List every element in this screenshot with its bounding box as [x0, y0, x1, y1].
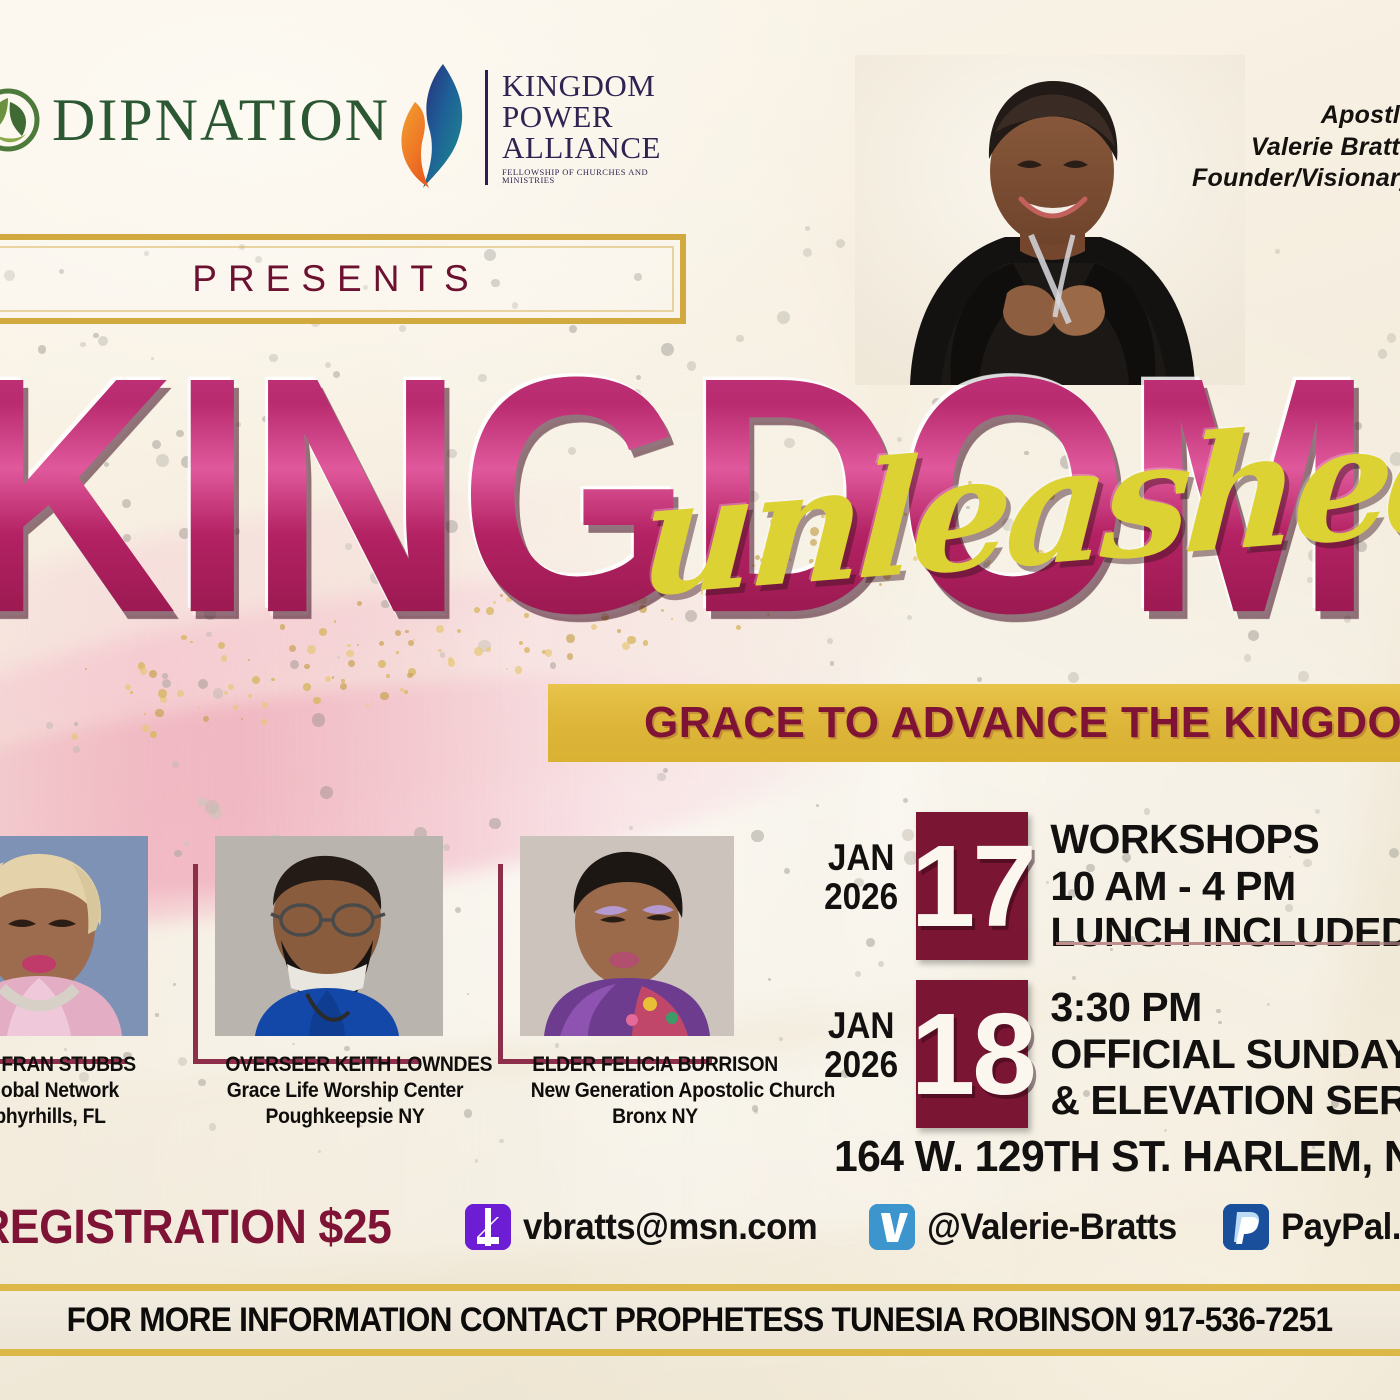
- confetti-dot: [657, 773, 665, 781]
- speaker-name: ELDER FELICIA BURRISON: [531, 1052, 779, 1078]
- date-details: WORKSHOPS 10 AM - 4 PM LUNCH INCLUDED: [1050, 816, 1400, 956]
- speaker-name: DR. FRAN STUBBS: [0, 1052, 160, 1078]
- speaker-photo-frame: [520, 836, 734, 1036]
- apostle-name: Valerie Bratts: [1174, 132, 1400, 164]
- date-day-box: 17: [916, 812, 1028, 960]
- payment-paypal[interactable]: PayPal.me/VBratts: [1223, 1204, 1400, 1250]
- speaker-photo: [0, 836, 148, 1036]
- confetti-dot: [404, 690, 408, 694]
- confetti-dot: [73, 746, 80, 753]
- confetti-dot: [198, 797, 207, 806]
- date-month-year: JAN 2026: [824, 838, 898, 916]
- confetti-dot: [629, 826, 633, 830]
- date-row: JAN 2026 17 WORKSHOPS 10 AM - 4 PM LUNCH…: [820, 812, 1400, 960]
- paypal-handle: PayPal.me/VBratts: [1281, 1206, 1400, 1248]
- confetti-dot: [366, 705, 368, 707]
- speakers-section: DR. FRAN STUBBS Global Network phyrhills…: [0, 836, 800, 1146]
- date-row: JAN 2026 18 3:30 PM OFFICIAL SUNDAY & EL…: [820, 980, 1400, 1128]
- alliance-subtitle: FELLOWSHIP OF CHURCHES AND MINISTRIES: [502, 168, 700, 185]
- dipnation-logo: DIPNATION: [0, 88, 390, 152]
- confetti-dot: [836, 239, 845, 248]
- confetti-dot: [158, 689, 167, 698]
- date-detail-line: 3:30 PM: [1050, 984, 1400, 1031]
- flame-icon: [385, 62, 477, 192]
- main-title-block: KINGDOM unleashed: [0, 330, 1400, 690]
- date-detail-line: 10 AM - 4 PM: [1050, 863, 1400, 910]
- zelle-handle: vbratts@msn.com: [523, 1206, 817, 1248]
- confetti-dot: [380, 692, 388, 700]
- confetti-dot: [663, 768, 668, 773]
- confetti-dot: [313, 697, 321, 705]
- speaker-org: Grace Life Worship Center: [225, 1078, 464, 1104]
- apostle-role: Founder/Visionary: [1174, 163, 1400, 195]
- speaker-org: New Generation Apostolic Church: [531, 1078, 779, 1104]
- confetti-dot: [46, 722, 53, 729]
- confetti-dot: [475, 1159, 479, 1163]
- confetti-dot: [177, 690, 184, 697]
- confetti-dot: [805, 226, 810, 231]
- confetti-dot: [130, 691, 132, 693]
- venue-address: 164 W. 129TH ST. HARLEM, NY: [834, 1132, 1400, 1182]
- confetti-dot: [803, 248, 812, 257]
- sponsor-logo-row: DIPNATION: [0, 70, 700, 210]
- apostle-caption: Apostle Valerie Bratts Founder/Visionary: [1174, 100, 1400, 195]
- speaker-card: DR. FRAN STUBBS Global Network phyrhills…: [0, 836, 170, 1131]
- date-year: 2026: [824, 877, 898, 916]
- contact-text: FOR MORE INFORMATION CONTACT PROPHETESS …: [67, 1301, 1333, 1340]
- confetti-dot: [172, 761, 179, 768]
- registration-row: REGISTRATION $25 vbratts@msn.com @Valeri…: [0, 1196, 1400, 1258]
- payment-zelle[interactable]: vbratts@msn.com: [465, 1204, 836, 1250]
- date-detail-line: OFFICIAL SUNDAY: [1050, 1031, 1400, 1078]
- alliance-line-2: POWER: [502, 101, 700, 132]
- confetti-dot: [903, 798, 908, 803]
- alliance-line-3: ALLIANCE: [502, 132, 700, 163]
- confetti-dot: [160, 696, 167, 703]
- confetti-dot: [312, 713, 326, 727]
- confetti-dot: [261, 719, 267, 725]
- confetti-dot: [155, 709, 163, 717]
- kingdom-power-alliance-logo: KINGDOM POWER ALLIANCE FELLOWSHIP OF CHU…: [385, 62, 700, 192]
- confetti-dot: [209, 805, 222, 818]
- presents-label: PRESENTS: [182, 258, 479, 300]
- tagline-text: GRACE TO ADVANCE THE KINGDOM: [644, 698, 1400, 748]
- speaker-org: Global Network: [0, 1078, 160, 1104]
- date-month: JAN: [824, 1006, 898, 1045]
- date-year: 2026: [824, 1045, 898, 1084]
- speaker-card: OVERSEER KEITH LOWNDES Grace Life Worshi…: [215, 836, 475, 1131]
- confetti-dot: [318, 1150, 321, 1153]
- date-details: 3:30 PM OFFICIAL SUNDAY & ELEVATION SERV…: [1050, 984, 1400, 1124]
- date-day-box: 18: [916, 980, 1028, 1128]
- confetti-dot: [489, 818, 500, 829]
- alliance-wordmark: KINGDOM POWER ALLIANCE FELLOWSHIP OF CHU…: [485, 70, 700, 185]
- confetti-dot: [150, 731, 158, 739]
- speaker-location: Poughkeepsie NY: [225, 1104, 464, 1130]
- alliance-line-1: KINGDOM: [502, 70, 700, 101]
- confetti-dot: [198, 706, 200, 708]
- confetti-dot: [320, 786, 333, 799]
- date-day: 18: [911, 996, 1034, 1112]
- speaker-photo: [215, 836, 443, 1036]
- confetti-dot: [233, 705, 238, 710]
- speaker-card: ELDER FELICIA BURRISON New Generation Ap…: [520, 836, 790, 1131]
- event-flyer: DIPNATION: [0, 0, 1400, 1400]
- confetti-dot: [203, 716, 209, 722]
- confetti-dot: [816, 804, 819, 807]
- confetti-dot: [224, 691, 228, 695]
- speaker-location: Bronx NY: [531, 1104, 779, 1130]
- date-detail-line: LUNCH INCLUDED: [1050, 909, 1400, 956]
- confetti-dot: [142, 725, 150, 733]
- confetti-dot: [74, 722, 79, 727]
- confetti-dot: [248, 694, 253, 699]
- zelle-icon: [465, 1204, 511, 1250]
- confetti-dot: [262, 702, 268, 708]
- confetti-dot: [205, 800, 218, 813]
- paypal-icon: [1223, 1204, 1269, 1250]
- date-divider: [1056, 942, 1400, 945]
- date-month: JAN: [824, 838, 898, 877]
- payment-venmo[interactable]: @Valerie-Bratts: [869, 1204, 1193, 1250]
- contact-banner: FOR MORE INFORMATION CONTACT PROPHETESS …: [0, 1284, 1400, 1356]
- speaker-photo-frame: [0, 836, 148, 1036]
- date-detail-line: WORKSHOPS: [1050, 816, 1400, 863]
- confetti-dot: [241, 718, 243, 720]
- speaker-photo: [520, 836, 734, 1036]
- confetti-dot: [144, 713, 146, 715]
- apostle-title: Apostle: [1174, 100, 1400, 132]
- green-leaf-circle-icon: [0, 88, 42, 152]
- venmo-handle: @Valerie-Bratts: [927, 1206, 1177, 1248]
- confetti-dot: [1275, 249, 1279, 253]
- speaker-name: OVERSEER KEITH LOWNDES: [225, 1052, 464, 1078]
- speaker-location: phyrhills, FL: [0, 1104, 160, 1130]
- dates-section: JAN 2026 17 WORKSHOPS 10 AM - 4 PM LUNCH…: [820, 812, 1400, 1162]
- confetti-dot: [71, 733, 78, 740]
- venmo-icon: [869, 1204, 915, 1250]
- registration-price: REGISTRATION $25: [0, 1200, 391, 1255]
- date-day: 17: [911, 828, 1034, 944]
- speaker-photo-frame: [215, 836, 443, 1036]
- date-month-year: JAN 2026: [824, 1006, 898, 1084]
- date-detail-line: & ELEVATION SERVICE: [1050, 1077, 1400, 1124]
- dipnation-wordmark: DIPNATION: [52, 90, 390, 150]
- tagline-bar: GRACE TO ADVANCE THE KINGDOM: [548, 684, 1400, 762]
